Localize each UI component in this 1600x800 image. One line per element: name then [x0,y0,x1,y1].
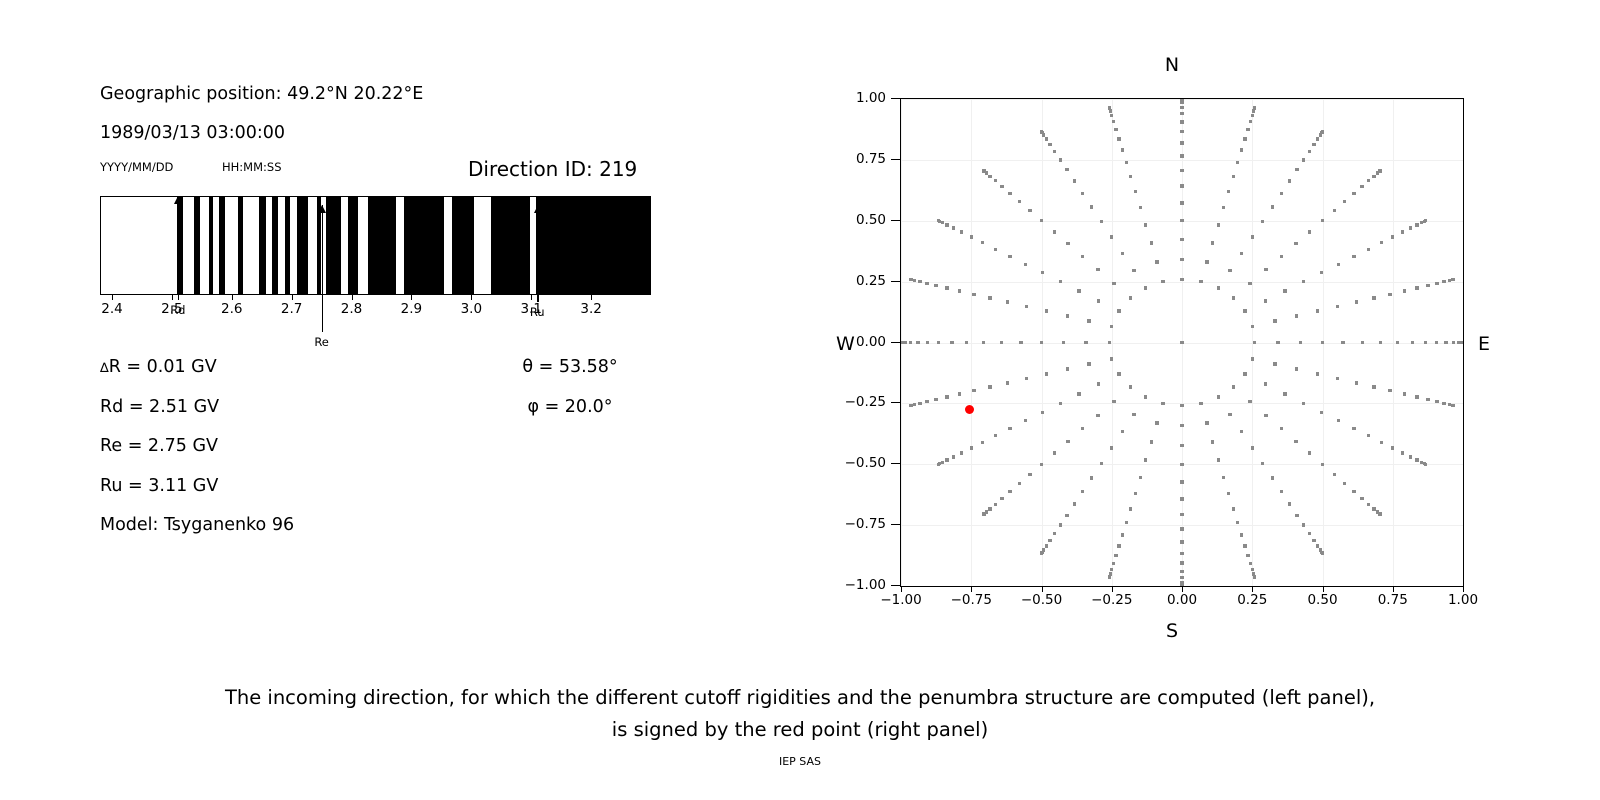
direction-point [1117,544,1120,547]
penumbra-band [272,197,278,294]
direction-point [945,458,948,461]
penumbra-band [194,197,200,294]
direction-point [1424,219,1427,222]
penumbra-band [259,197,266,294]
direction-point [934,398,937,401]
axis-tick-label: 2.6 [221,301,242,317]
direction-point [1379,341,1382,344]
direction-point [1312,539,1315,542]
rd-value-text: Rd = 2.51 GV [100,397,219,417]
marker-label: Rd [170,303,185,317]
direction-point [1180,130,1183,133]
right-panel: N S W E −1.00−0.75−0.50−0.250.000.250.50… [830,50,1530,650]
x-axis-tick-label: 0.00 [1167,592,1197,608]
direction-point [950,341,953,344]
direction-point [1121,252,1124,255]
direction-point [1316,309,1319,312]
y-axis-tick-label: 1.00 [830,90,886,106]
direction-point [1134,190,1137,193]
direction-point [1040,552,1043,555]
y-axis-tick [891,159,900,160]
direction-point [1435,341,1438,344]
direction-point [1217,223,1220,226]
direction-point [1280,427,1283,430]
compass-east-label: E [1478,333,1490,355]
direction-point [1452,404,1455,407]
direction-point [1248,400,1251,403]
direction-point [909,404,912,407]
direction-point [1379,169,1382,172]
direction-point [1087,319,1090,322]
direction-point [1025,305,1028,308]
direction-point [1108,106,1111,109]
direction-point [1415,458,1418,461]
direction-point [1302,280,1305,283]
direction-point [926,341,929,344]
direction-point [925,282,928,285]
direction-point [1228,413,1231,416]
direction-point [994,179,997,182]
direction-point [1180,169,1183,172]
axis-tick [352,295,353,300]
direction-point [952,226,955,229]
direction-point [1110,568,1113,571]
y-axis-tick-label: −0.50 [830,455,886,471]
direction-point [909,278,912,281]
direction-point [972,293,975,296]
direction-point [1227,190,1230,193]
direction-point [1053,451,1056,454]
direction-point [1316,137,1319,140]
direction-point [1217,395,1220,398]
axis-tick-label: 2.9 [401,301,422,317]
penumbra-band [219,197,225,294]
direction-point [1059,280,1062,283]
direction-point [988,296,991,299]
direction-point [1084,341,1087,344]
direction-point [1006,300,1009,303]
direction-point [1008,427,1011,430]
marker-label: Re [314,335,329,349]
direction-point [1308,451,1311,454]
direction-point [1081,192,1084,195]
direction-point [1249,562,1252,565]
direction-point [1232,507,1235,510]
direction-point [1024,263,1027,266]
direction-point [1065,168,1068,171]
marker-label: Ru [530,305,545,319]
arrow-shaft [178,196,179,300]
direction-point [1379,513,1382,516]
caption-line-1: The incoming direction, for which the di… [0,682,1600,714]
penumbra-band [348,197,358,294]
direction-point [1352,192,1355,195]
direction-point [1048,539,1051,542]
axis-tick [471,295,472,300]
direction-point [1251,114,1254,117]
direction-point [1114,554,1117,557]
direction-point [1028,473,1031,476]
direction-point [1144,458,1147,461]
direction-point [1321,130,1324,133]
direction-point [1045,372,1048,375]
direction-point [1409,226,1412,229]
direction-point [1112,400,1115,403]
direction-point [904,341,907,344]
direction-point [1045,309,1048,312]
direction-point [1232,385,1235,388]
direction-point [1180,154,1183,157]
direction-point [1415,223,1418,226]
direction-point [1302,402,1305,405]
direction-point [1066,367,1069,370]
time-format-hint: HH:MM:SS [222,160,282,174]
axis-tick-label: 2.4 [101,301,122,317]
axis-tick-label: 2.7 [281,301,302,317]
direction-point [1246,554,1249,557]
direction-point [1211,241,1214,244]
direction-point [1161,280,1164,283]
direction-point [1240,533,1243,536]
direction-point [1308,150,1311,153]
penumbra-band [285,197,290,294]
direction-point [1114,128,1117,131]
axis-tick [531,295,532,300]
direction-point [1243,544,1246,547]
direction-point [1424,341,1427,344]
direction-point [1295,367,1298,370]
direction-point [1180,527,1183,530]
direction-point [1261,462,1264,465]
direction-point [1100,220,1103,223]
direction-point [1251,568,1254,571]
delta-r: ∆R = 0.01 GV [100,357,217,377]
penumbra-band [297,197,308,294]
direction-point [1129,175,1132,178]
direction-point [1337,419,1340,422]
direction-point [960,451,963,454]
direction-point [1240,252,1243,255]
direction-point [1321,552,1324,555]
direction-point [1243,372,1246,375]
penumbra-band [491,197,530,294]
direction-point [1180,120,1183,123]
direction-point [1180,238,1183,241]
y-axis-tick [891,281,900,282]
direction-point [1251,357,1254,360]
direction-point [1333,473,1336,476]
direction-point [1391,235,1394,238]
direction-point [1155,260,1158,263]
figure-caption: The incoming direction, for which the di… [0,682,1600,746]
direction-point [1401,451,1404,454]
direction-point [1155,421,1158,424]
direction-point [1066,440,1069,443]
direction-point [1053,150,1056,153]
y-axis-tick-label: −0.75 [830,516,886,532]
compass-north-label: N [1165,54,1179,76]
direction-point [1283,392,1286,395]
ru-value-text: Ru = 3.11 GV [100,476,218,496]
axis-tick [411,295,412,300]
direction-point [1251,235,1254,238]
direction-point [994,434,997,437]
direction-point [1045,137,1048,140]
direction-point [981,241,984,244]
direction-point [1271,476,1274,479]
direction-point [1066,314,1069,317]
delta-r-text: R = 0.01 GV [109,357,217,377]
direction-point [1059,402,1062,405]
direction-point [1426,284,1429,287]
direction-point [1280,255,1283,258]
direction-point [1264,382,1267,385]
direction-point [1090,205,1093,208]
direction-point [1444,341,1447,344]
direction-point [1355,300,1358,303]
y-axis-tick [891,463,900,464]
direction-point [1180,552,1183,555]
direction-point [1112,562,1115,565]
axis-tick-label: 3.0 [461,301,482,317]
direction-point [988,385,991,388]
direction-point [960,230,963,233]
direction-point [1217,286,1220,289]
direction-point [1008,255,1011,258]
direction-point [1180,112,1183,115]
re-value-text: Re = 2.75 GV [100,436,218,456]
direction-point [1288,502,1291,505]
direction-point [1000,497,1003,500]
direction-point [981,441,984,444]
direction-point [945,223,948,226]
direction-point [1343,200,1346,203]
direction-point [1081,255,1084,258]
direction-point [1312,143,1315,146]
direction-point [1008,192,1011,195]
direction-point [1040,463,1043,466]
direction-point [1040,219,1043,222]
direction-point [1108,341,1111,344]
direction-point [1264,299,1267,302]
direction-point [1110,114,1113,117]
direction-point [1243,309,1246,312]
direction-point [1180,570,1183,573]
direction-point [918,402,921,405]
direction-point [1240,430,1243,433]
direction-point [988,175,991,178]
direction-point [1360,497,1363,500]
direction-point [1112,282,1115,285]
direction-point [1352,427,1355,430]
direction-point [916,341,919,344]
direction-point [1320,411,1323,414]
direction-point [1180,497,1183,500]
direction-point [1308,230,1311,233]
direction-point [965,341,968,344]
direction-point [1211,440,1214,443]
direction-point [937,219,940,222]
direction-point [1117,372,1120,375]
model-text: Model: Tsyganenko 96 [100,515,294,535]
direction-point [1180,141,1183,144]
direction-point [1232,296,1235,299]
direction-point [945,395,948,398]
direction-point [1205,260,1208,263]
direction-point [1180,341,1183,344]
direction-point [1180,258,1183,261]
gridline-horizontal [901,160,1463,161]
direction-point [1452,341,1455,344]
direction-point [1248,282,1251,285]
direction-point [1426,398,1429,401]
arrow-up-icon [318,205,326,213]
direction-point [1180,201,1183,204]
direction-point [1273,319,1276,322]
direction-point [1121,148,1124,151]
direction-point [1053,532,1056,535]
x-axis-tick-label: 1.00 [1448,592,1478,608]
direction-point [1283,289,1286,292]
y-axis-tick [891,98,900,99]
direction-point [988,507,991,510]
direction-point [1228,269,1231,272]
direction-point [1129,385,1132,388]
x-axis-tick-label: −0.25 [1091,592,1132,608]
direction-point [1110,325,1113,328]
direction-point [1000,341,1003,344]
direction-point [1316,372,1319,375]
arrow-up-icon [174,196,182,204]
direction-point [1073,502,1076,505]
direction-point [1144,223,1147,226]
axis-tick-label: 2.8 [341,301,362,317]
arrow-shaft [322,205,323,332]
direction-point [1041,271,1044,274]
direction-point [1059,523,1062,526]
direction-point [1112,120,1115,123]
y-axis-tick [891,585,900,586]
selected-direction-point [965,405,974,414]
direction-point [1336,377,1339,380]
axis-tick [172,295,173,300]
direction-point [1435,282,1438,285]
direction-point [1199,280,1202,283]
direction-point [1180,576,1183,579]
direction-point [1028,209,1031,212]
y-axis-tick-label: 0.75 [830,151,886,167]
direction-point [1415,395,1418,398]
direction-point [1110,235,1113,238]
arrow-shaft [537,205,538,302]
model: Model: Tsyganenko 96 [100,515,294,535]
direction-point [1411,341,1414,344]
direction-point [1117,309,1120,312]
direction-point [1121,430,1124,433]
direction-point [1139,476,1142,479]
x-axis-tick-label: −0.50 [1021,592,1062,608]
direction-point [982,341,985,344]
direction-point [1066,242,1069,245]
direction-point [1280,192,1283,195]
direction-point [1253,341,1256,344]
direction-point [1302,158,1305,161]
direction-scatter-plot [900,98,1464,587]
x-axis-tick-label: −0.75 [951,592,992,608]
direction-point [1341,341,1344,344]
direction-point [1361,341,1364,344]
direction-point [958,392,961,395]
direction-point [1253,106,1256,109]
direction-point [1180,219,1183,222]
ru-value: Ru = 3.11 GV [100,476,218,496]
y-axis-tick [891,220,900,221]
x-axis-tick-label: 0.75 [1378,592,1408,608]
direction-point [1261,220,1264,223]
direction-point [1435,400,1438,403]
direction-point [1295,168,1298,171]
theta-value: θ = 53.58° [522,357,617,377]
direction-point [1308,532,1311,535]
direction-point [1372,385,1375,388]
direction-point [1180,184,1183,187]
direction-point [1288,179,1291,182]
direction-point [972,389,975,392]
direction-point [1336,305,1339,308]
direction-point [934,284,937,287]
direction-point [1251,446,1254,449]
direction-point [1380,241,1383,244]
phi-value: φ = 20.0° [527,397,612,417]
direction-point [1180,480,1183,483]
direction-point [1424,463,1427,466]
left-panel: Geographic position: 49.2°N 20.22°E 1989… [0,0,760,620]
direction-point [1391,446,1394,449]
direction-point [1415,286,1418,289]
y-axis-tick-label: −0.25 [830,394,886,410]
direction-point [909,341,912,344]
direction-point [1144,286,1147,289]
direction-point [1077,392,1080,395]
direction-point [1372,296,1375,299]
direction-point [1227,492,1230,495]
direction-point [1132,269,1135,272]
direction-point [1077,289,1080,292]
direction-point [1180,463,1183,466]
direction-point [1087,362,1090,365]
direction-point [1403,289,1406,292]
direction-point [1320,271,1323,274]
direction-point [1243,137,1246,140]
direction-point [1280,490,1283,493]
rd-value: Rd = 2.51 GV [100,397,219,417]
penumbra-band [238,197,243,294]
direction-point [1452,278,1455,281]
direction-point [1108,576,1111,579]
direction-point [982,513,985,516]
y-axis-tick [891,524,900,525]
direction-point [1180,404,1183,407]
direction-point [1442,402,1445,405]
direction-point [1024,419,1027,422]
gridline-vertical [1463,99,1464,586]
direction-point [1117,137,1120,140]
direction-point [1180,98,1183,101]
x-axis-tick-label: 0.25 [1237,592,1267,608]
direction-point [1139,206,1142,209]
direction-point [1053,230,1056,233]
direction-point [1045,544,1048,547]
